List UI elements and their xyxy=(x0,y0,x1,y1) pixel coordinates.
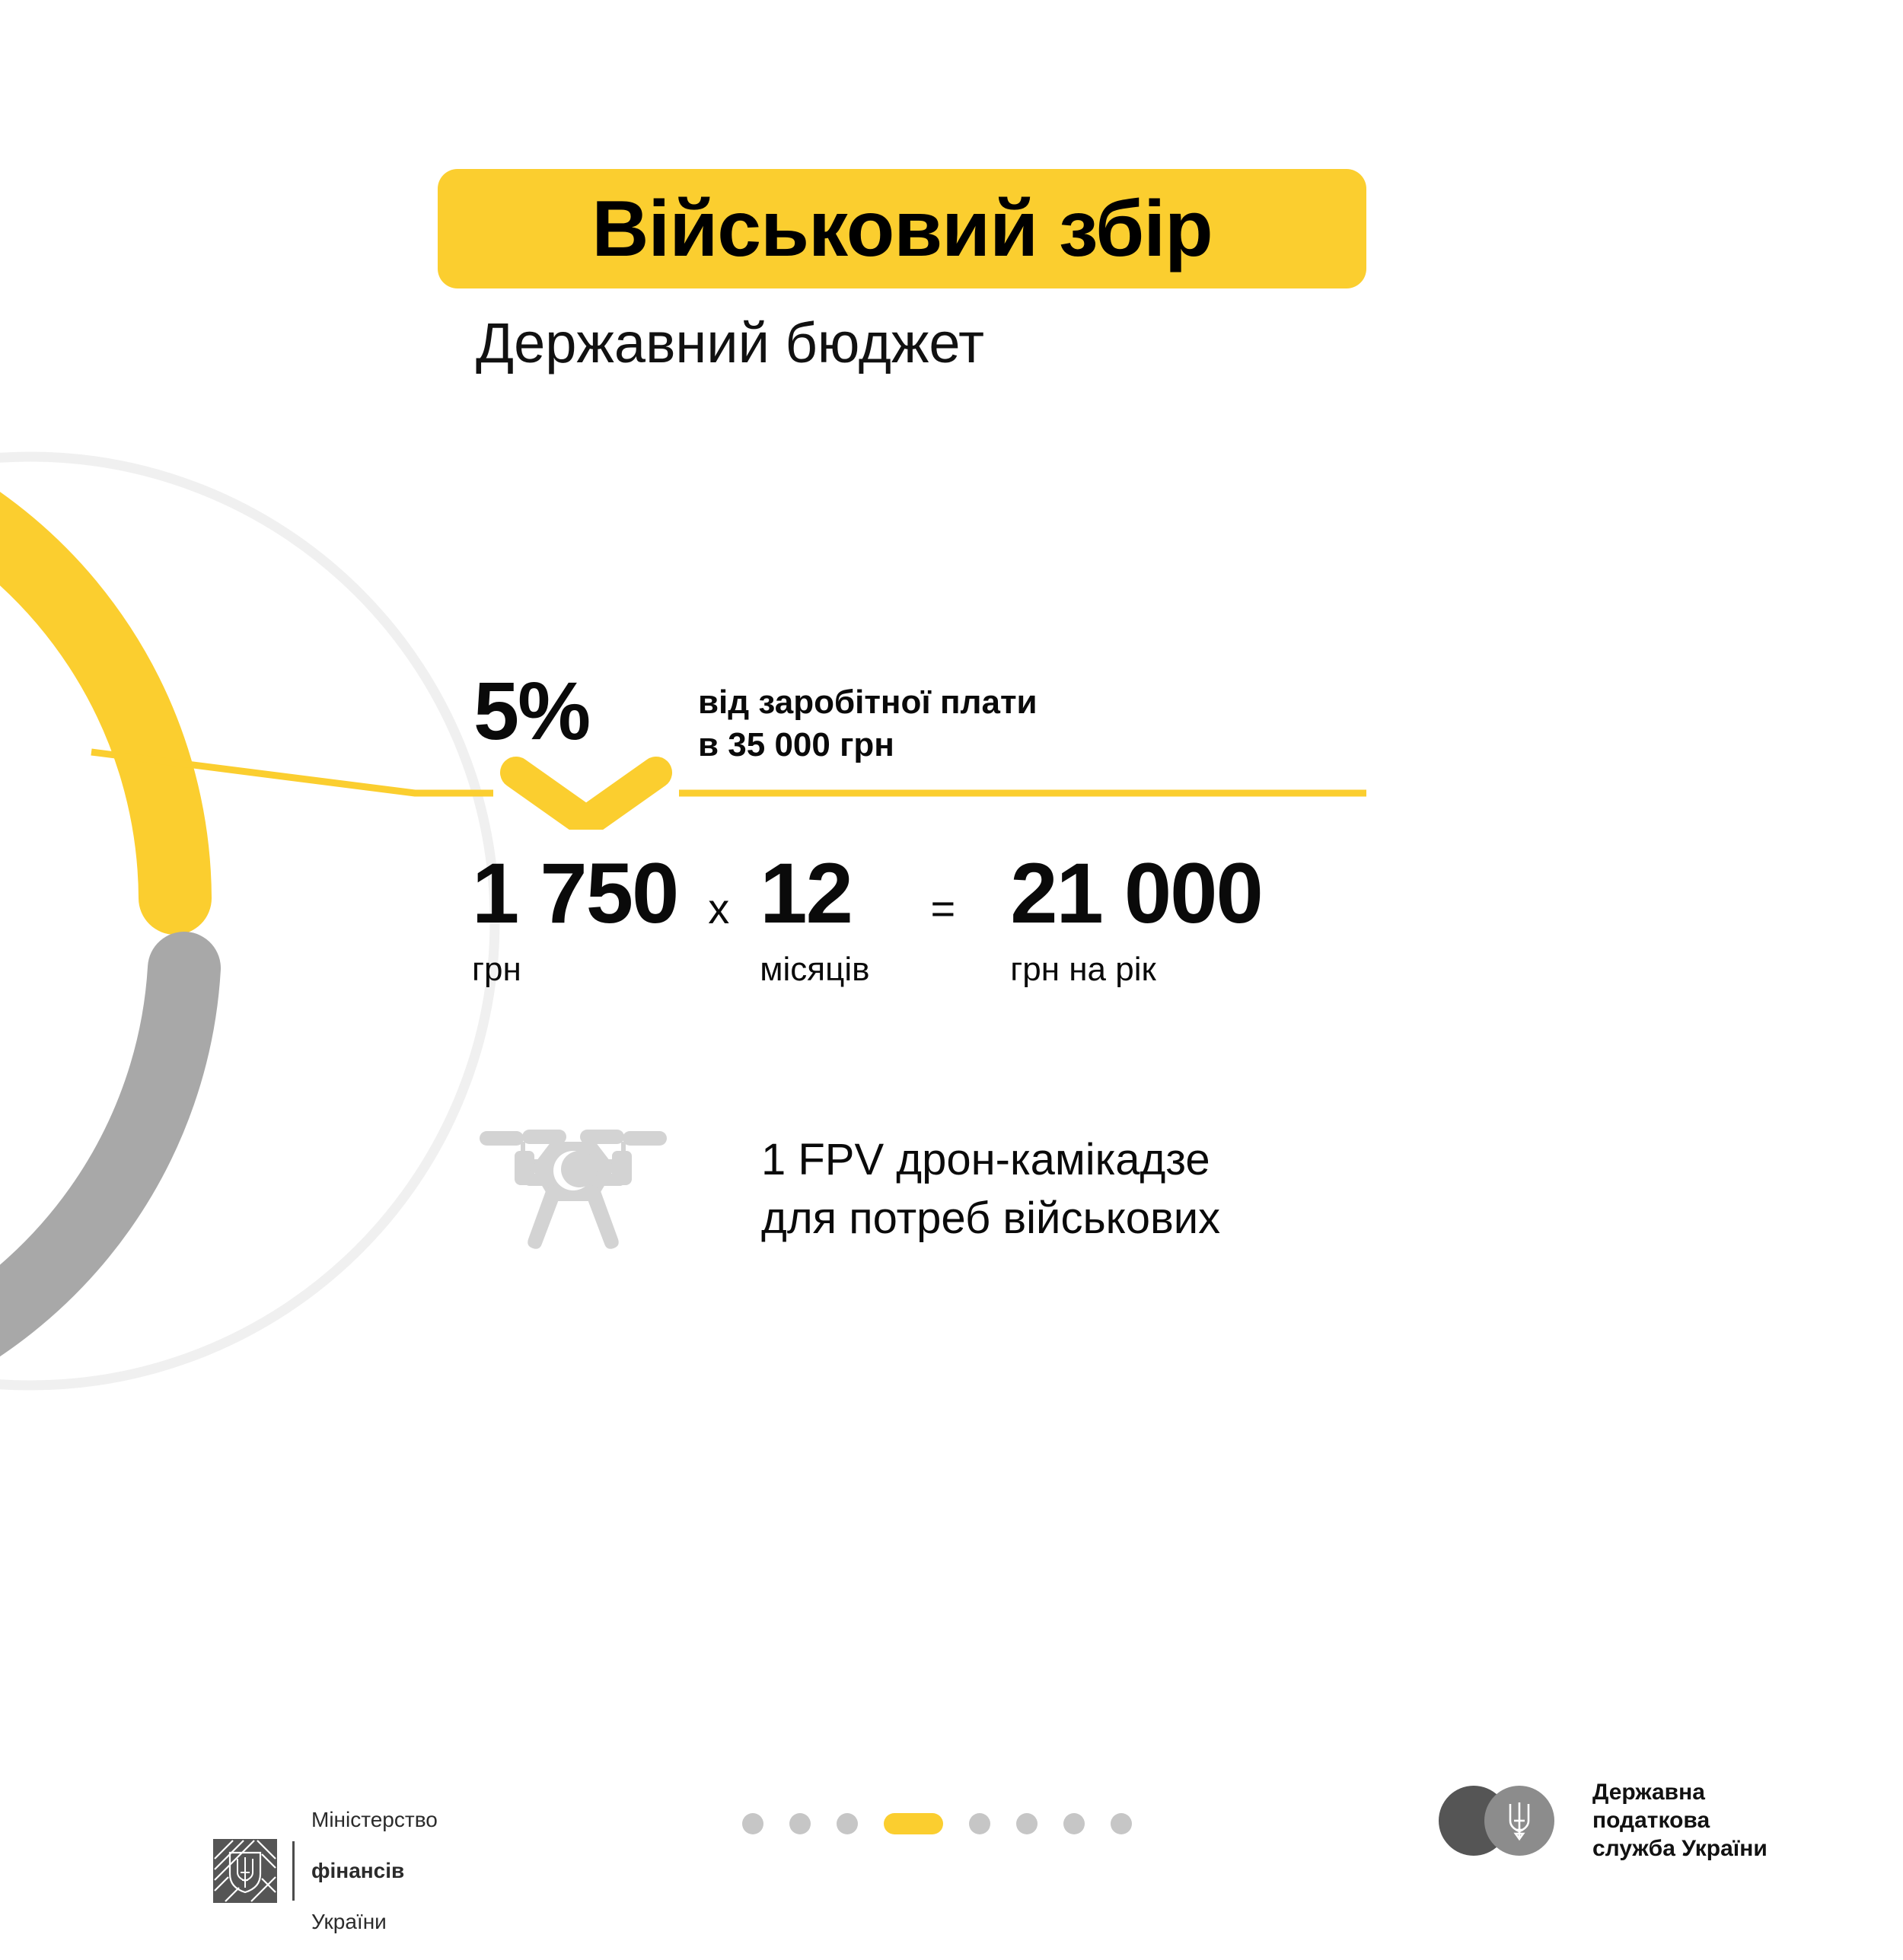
months-value: 12 xyxy=(760,851,869,936)
equivalent-text: 1 FPV дрон-камікадзе для потреб військов… xyxy=(761,1130,1220,1248)
tryzub-shield-icon xyxy=(213,1839,277,1903)
pagination-dot[interactable] xyxy=(742,1813,763,1834)
multiply-operator: x xyxy=(708,888,729,930)
pagination-dot-active[interactable] xyxy=(884,1813,943,1834)
monthly-unit: грн xyxy=(472,953,677,986)
calculation-equation: 1 750 грн x 12 місяців = 21 000 грн на р… xyxy=(472,851,1262,986)
yearly-unit: грн на рік xyxy=(1010,953,1262,986)
donut-segment-grey xyxy=(0,968,184,1369)
pagination-dot[interactable] xyxy=(837,1813,858,1834)
logo-divider xyxy=(292,1841,295,1901)
pagination-dot[interactable] xyxy=(1111,1813,1132,1834)
chevron-down-icon xyxy=(516,773,656,822)
pagination-dot[interactable] xyxy=(1063,1813,1085,1834)
pagination-dot[interactable] xyxy=(1016,1813,1038,1834)
ministry-name: Міністерство фінансів України xyxy=(311,1781,438,1960)
page-title: Військовий збір xyxy=(591,190,1212,269)
leader-line xyxy=(91,752,493,793)
pagination-dots[interactable] xyxy=(742,1813,1132,1834)
equation-term-monthly: 1 750 грн xyxy=(472,851,677,986)
infographic-slide: Військовий збір Державний бюджет 5% від … xyxy=(0,0,1903,1903)
equals-operator: = xyxy=(930,888,955,930)
pagination-dot[interactable] xyxy=(969,1813,990,1834)
donut-segment-yellow xyxy=(0,476,175,898)
pagination-dot[interactable] xyxy=(789,1813,811,1834)
equation-term-yearly: 21 000 грн на рік xyxy=(1010,851,1262,986)
ministry-line-2: фінансів xyxy=(311,1858,438,1884)
ministry-line-3: України xyxy=(311,1909,438,1935)
page-subtitle: Державний бюджет xyxy=(476,311,984,375)
monthly-value: 1 750 xyxy=(472,851,677,936)
leader-line-connector xyxy=(0,708,1408,830)
donut-chart-decoration xyxy=(0,426,518,1416)
yearly-value: 21 000 xyxy=(1010,851,1262,936)
ministry-line-1: Міністерство xyxy=(311,1807,438,1833)
page-title-badge: Військовий збір xyxy=(438,169,1366,288)
ministry-of-finance-logo: Міністерство фінансів України xyxy=(213,1781,438,1960)
tax-service-name: Державна податкова служба України xyxy=(1592,1778,1768,1863)
months-unit: місяців xyxy=(760,953,869,986)
tax-service-logo: Державна податкова служба України xyxy=(1439,1778,1768,1863)
equation-term-months: 12 місяців xyxy=(760,851,869,986)
tryzub-circle-icon xyxy=(1439,1786,1573,1856)
drone-icon xyxy=(478,1123,668,1268)
